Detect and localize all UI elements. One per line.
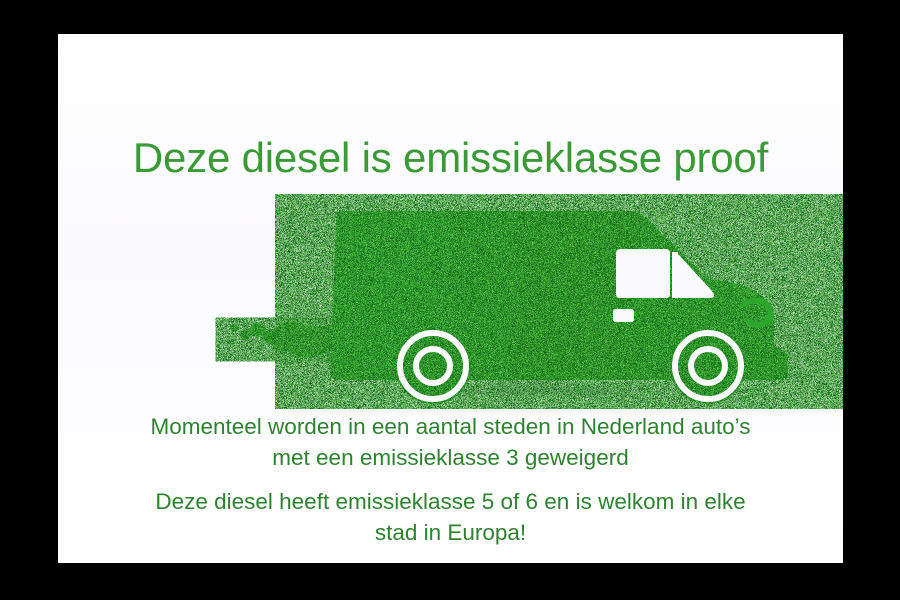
- front-bumper: [744, 344, 788, 380]
- front-wheel-disc: [670, 328, 746, 404]
- rear-wheel-disc: [395, 328, 471, 404]
- paragraph-refusal-line-2: met een emissieklasse 3 geweigerd: [98, 443, 803, 474]
- window-pillar: [672, 252, 678, 298]
- poster-frame: Deze diesel is emissieklasse proof: [0, 0, 900, 600]
- van-svg: [188, 194, 843, 409]
- paragraph-welcome-line-1: Deze diesel heeft emissieklasse 5 of 6 e…: [98, 487, 803, 518]
- paragraph-welcome: Deze diesel heeft emissieklasse 5 of 6 e…: [98, 487, 803, 548]
- poster-panel: Deze diesel is emissieklasse proof: [58, 34, 843, 563]
- paragraph-refusal: Momenteel worden in een aantal steden in…: [98, 412, 803, 473]
- door-handle: [613, 309, 634, 322]
- windshield: [676, 255, 714, 298]
- side-window: [616, 249, 670, 298]
- van-illustration: [188, 194, 843, 409]
- paragraph-welcome-line-2: stad in Europa!: [98, 518, 803, 549]
- page-title: Deze diesel is emissieklasse proof: [58, 134, 843, 182]
- paragraph-refusal-line-1: Momenteel worden in een aantal steden in…: [98, 412, 803, 443]
